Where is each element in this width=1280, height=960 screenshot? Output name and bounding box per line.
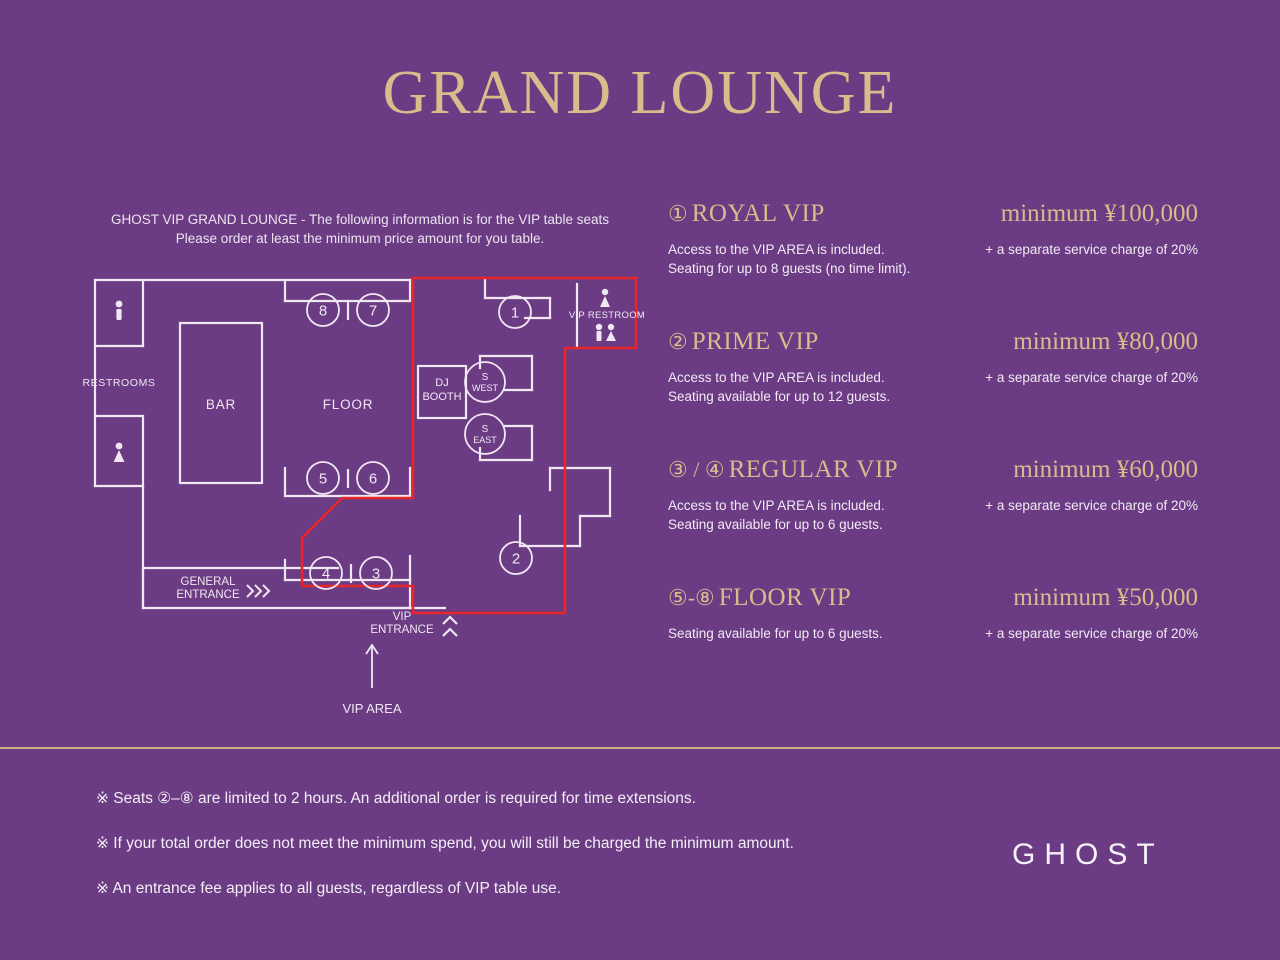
- tier-floor-vip-header: ⑤-⑧FLOOR VIP minimum ¥50,000: [668, 584, 1198, 612]
- vip-entrance-arrow-icon: [443, 617, 457, 636]
- tier-floor-vip-title: FLOOR VIP: [719, 584, 852, 611]
- note-item-3: ※ An entrance fee applies to all guests,…: [96, 878, 946, 900]
- label-general-entrance-line-1: GENERAL: [181, 576, 237, 588]
- general-entrance-arrow-icon: [247, 585, 269, 597]
- section-divider: [0, 747, 1280, 749]
- tier-prime-vip-charge: + a separate service charge of 20%: [985, 368, 1198, 387]
- table-label-3: 3: [372, 566, 380, 583]
- page-title: GRAND LOUNGE: [0, 58, 1280, 129]
- tier-prime-vip-name: ②PRIME VIP: [668, 328, 819, 356]
- tier-royal-vip-header: ①ROYAL VIP minimum ¥100,000: [668, 200, 1198, 228]
- floorplan-diagram: 8 7 5 6 4 3 1: [80, 268, 660, 728]
- vip-restroom-female-icon: [600, 289, 610, 307]
- notes-list: ※ Seats ②–⑧ are limited to 2 hours. An a…: [96, 788, 946, 923]
- tier-prime-vip-desc: Access to the VIP AREA is included. Seat…: [668, 368, 890, 406]
- tier-royal-vip-price: minimum ¥100,000: [1001, 200, 1198, 228]
- note-item-2: ※ If your total order does not meet the …: [96, 833, 946, 855]
- restroom-female-icon: [114, 443, 125, 462]
- vip-restroom-mixed-icon: [596, 324, 616, 341]
- sofa-circle-group: S WEST S EAST: [465, 362, 505, 454]
- label-vip-restroom: VIP RESTROOM: [569, 310, 645, 321]
- table-label-6: 6: [369, 471, 377, 488]
- tier-floor-vip-marks: ⑤-⑧: [668, 585, 715, 610]
- label-general-entrance-line-2: ENTRANCE: [176, 589, 240, 601]
- tier-prime-vip-header: ②PRIME VIP minimum ¥80,000: [668, 328, 1198, 356]
- label-floor: FLOOR: [323, 397, 374, 412]
- sofa-west-label-2: WEST: [472, 383, 499, 393]
- tier-regular-vip-marks: ③ / ④: [668, 457, 725, 482]
- tier-royal-vip-title: ROYAL VIP: [692, 200, 825, 227]
- table-circle-group: 8 7 5 6 4 3 1: [307, 294, 532, 589]
- tier-regular-vip-desc: Access to the VIP AREA is included. Seat…: [668, 496, 885, 534]
- sofa-east-label-1: S: [482, 424, 489, 435]
- tier-floor-vip-price: minimum ¥50,000: [1013, 584, 1198, 612]
- label-vip-entrance-line-1: VIP: [393, 611, 412, 623]
- tier-royal-vip-name: ①ROYAL VIP: [668, 200, 825, 228]
- table-label-7: 7: [369, 303, 377, 320]
- tier-regular-vip-price: minimum ¥60,000: [1013, 456, 1198, 484]
- table-label-8: 8: [319, 303, 327, 320]
- tier-prime-vip-body: Access to the VIP AREA is included. Seat…: [668, 368, 1198, 406]
- brand-logo: GHOST: [1012, 838, 1164, 872]
- tier-regular-vip-name: ③ / ④REGULAR VIP: [668, 456, 898, 484]
- floorplan-intro: GHOST VIP GRAND LOUNGE - The following i…: [90, 210, 630, 248]
- note-item-1: ※ Seats ②–⑧ are limited to 2 hours. An a…: [96, 788, 946, 810]
- tier-regular-vip-charge: + a separate service charge of 20%: [985, 496, 1198, 515]
- table-label-1: 1: [511, 305, 519, 322]
- vip-area-pointer-icon: [366, 645, 378, 688]
- tier-regular-vip-title: REGULAR VIP: [729, 456, 899, 483]
- tier-royal-vip-charge: + a separate service charge of 20%: [985, 240, 1198, 259]
- tier-royal-vip: ①ROYAL VIP minimum ¥100,000 Access to th…: [668, 200, 1198, 278]
- tier-floor-vip: ⑤-⑧FLOOR VIP minimum ¥50,000 Seating ava…: [668, 584, 1198, 643]
- tier-list: ①ROYAL VIP minimum ¥100,000 Access to th…: [668, 200, 1198, 693]
- label-bar: BAR: [206, 397, 236, 412]
- tier-prime-vip-title: PRIME VIP: [692, 328, 819, 355]
- tier-floor-vip-body: Seating available for up to 6 guests. + …: [668, 624, 1198, 643]
- label-restrooms: RESTROOMS: [82, 377, 155, 389]
- floorplan-intro-line-2: Please order at least the minimum price …: [90, 229, 630, 248]
- sofa-east-label-2: EAST: [473, 435, 497, 445]
- sofa-west-label-1: S: [482, 372, 489, 383]
- tier-regular-vip-header: ③ / ④REGULAR VIP minimum ¥60,000: [668, 456, 1198, 484]
- tier-regular-vip: ③ / ④REGULAR VIP minimum ¥60,000 Access …: [668, 456, 1198, 534]
- label-vip-area: VIP AREA: [342, 701, 401, 716]
- table-label-4: 4: [322, 566, 330, 583]
- floorplan-intro-line-1: GHOST VIP GRAND LOUNGE - The following i…: [90, 210, 630, 229]
- table-label-5: 5: [319, 471, 327, 488]
- tier-floor-vip-desc: Seating available for up to 6 guests.: [668, 624, 883, 643]
- tier-floor-vip-charge: + a separate service charge of 20%: [985, 624, 1198, 643]
- label-vip-entrance-line-2: ENTRANCE: [370, 624, 434, 636]
- tier-prime-vip-price: minimum ¥80,000: [1013, 328, 1198, 356]
- tier-prime-vip: ②PRIME VIP minimum ¥80,000 Access to the…: [668, 328, 1198, 406]
- tier-royal-vip-body: Access to the VIP AREA is included. Seat…: [668, 240, 1198, 278]
- tier-floor-vip-name: ⑤-⑧FLOOR VIP: [668, 584, 851, 612]
- label-dj-booth-line-2: BOOTH: [422, 391, 461, 403]
- restroom-male-icon: [116, 301, 123, 320]
- tier-regular-vip-body: Access to the VIP AREA is included. Seat…: [668, 496, 1198, 534]
- table-label-2: 2: [512, 551, 520, 568]
- poster-root: GRAND LOUNGE GHOST VIP GRAND LOUNGE - Th…: [0, 0, 1280, 960]
- tier-royal-vip-desc: Access to the VIP AREA is included. Seat…: [668, 240, 910, 278]
- tier-prime-vip-marks: ②: [668, 329, 688, 354]
- label-dj-booth-line-1: DJ: [435, 377, 448, 389]
- tier-royal-vip-marks: ①: [668, 201, 688, 226]
